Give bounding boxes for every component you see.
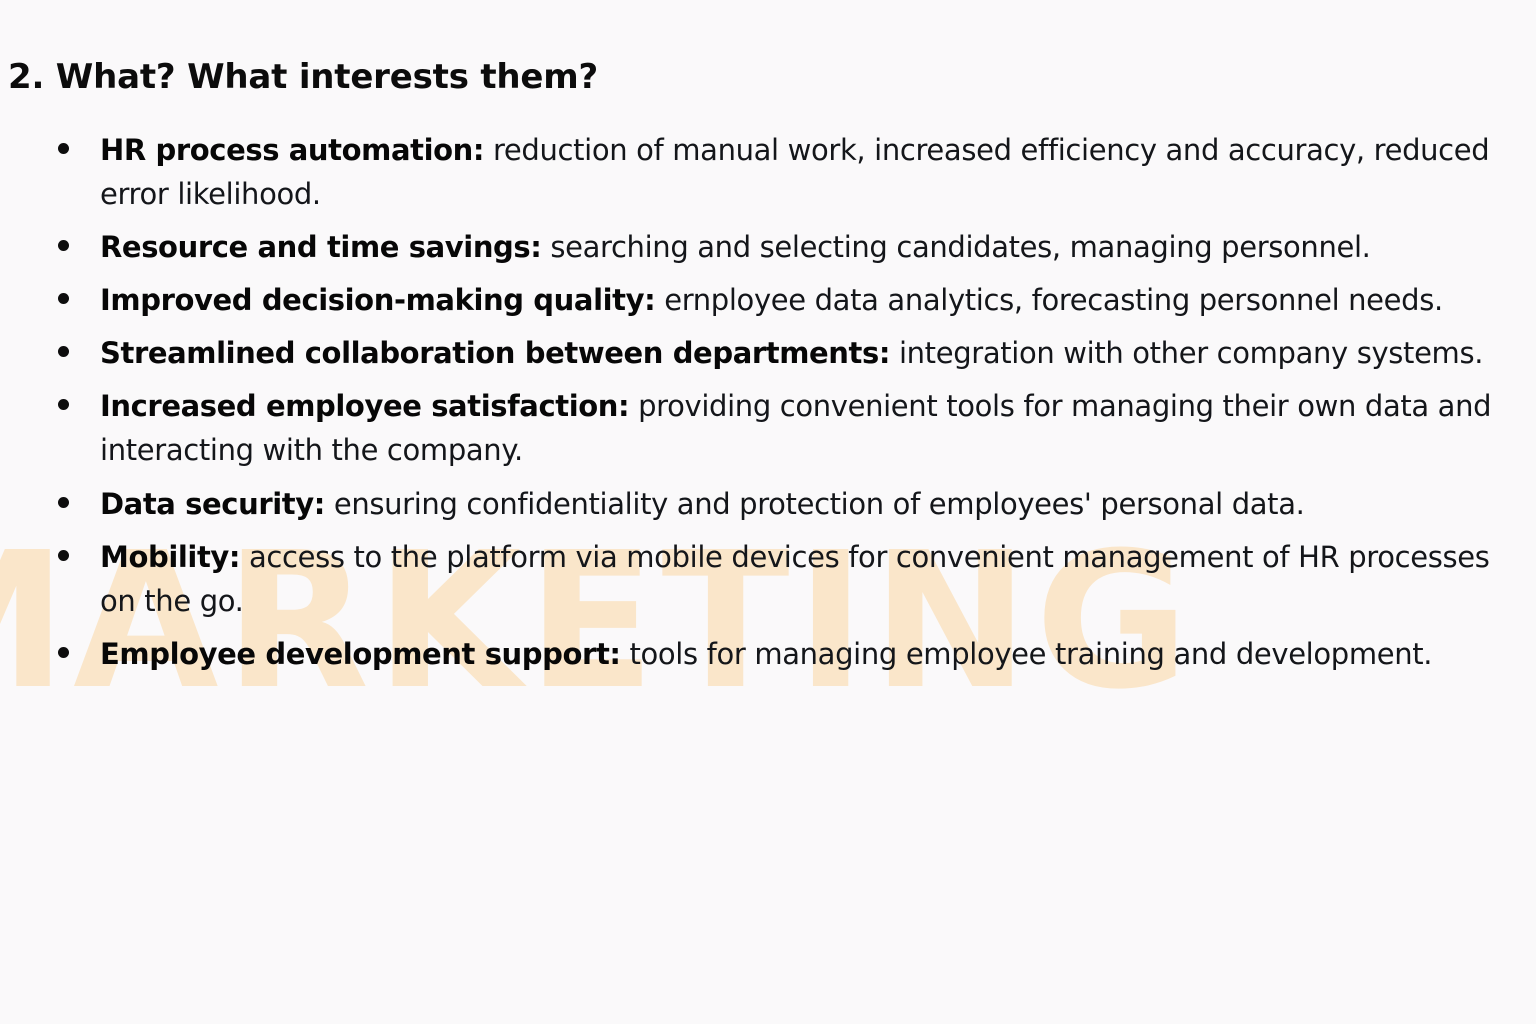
list-item-description: tools for managing employee training and… <box>621 637 1433 671</box>
list-item-lead-label: HR process automation: <box>100 133 484 167</box>
list-item-lead-label: Resource and time savings: <box>100 230 541 264</box>
slide-content: 2. What? What interests them? HR process… <box>0 0 1536 1024</box>
bullet-dot-icon <box>58 293 69 304</box>
page-title: 2. What? What interests them? <box>8 57 598 98</box>
bullet-dot-icon <box>58 647 69 658</box>
bullet-dot-icon <box>58 346 69 357</box>
list-item-lead-label: Streamlined collaboration between depart… <box>100 336 890 370</box>
list-item-description: ernployee data analytics, forecasting pe… <box>655 283 1443 317</box>
list-item: Employee development support: tools for … <box>48 632 1518 676</box>
bullet-dot-icon <box>58 550 69 561</box>
list-item: Resource and time savings: searching and… <box>48 225 1518 269</box>
list-item: Increased employee satisfaction: providi… <box>48 384 1518 472</box>
list-item-lead-label: Increased employee satisfaction: <box>100 389 629 423</box>
list-item-lead-label: Mobility: <box>100 540 240 574</box>
list-item-lead-label: Data security: <box>100 487 325 521</box>
slide-canvas: MARKETING 2. What? What interests them? … <box>0 0 1536 1024</box>
list-item-lead-label: Improved decision-making quality: <box>100 283 655 317</box>
list-item: HR process automation: reduction of manu… <box>48 128 1518 216</box>
list-item-description: searching and selecting candidates, mana… <box>541 230 1370 264</box>
list-item: Improved decision-making quality: ernplo… <box>48 278 1518 322</box>
bullet-dot-icon <box>58 240 69 251</box>
list-item-description: access to the platform via mobile device… <box>100 540 1489 618</box>
list-item-description: ensuring confidentiality and protection … <box>325 487 1305 521</box>
list-item: Streamlined collaboration between depart… <box>48 331 1518 375</box>
list-item: Mobility: access to the platform via mob… <box>48 535 1518 623</box>
list-item: Data security: ensuring confidentiality … <box>48 482 1518 526</box>
list-item-description: integration with other company systems. <box>890 336 1483 370</box>
list-item-lead-label: Employee development support: <box>100 637 621 671</box>
bullet-dot-icon <box>58 497 69 508</box>
bullet-dot-icon <box>58 399 69 410</box>
bullet-dot-icon <box>58 143 69 154</box>
benefits-bullet-list: HR process automation: reduction of manu… <box>48 128 1518 685</box>
